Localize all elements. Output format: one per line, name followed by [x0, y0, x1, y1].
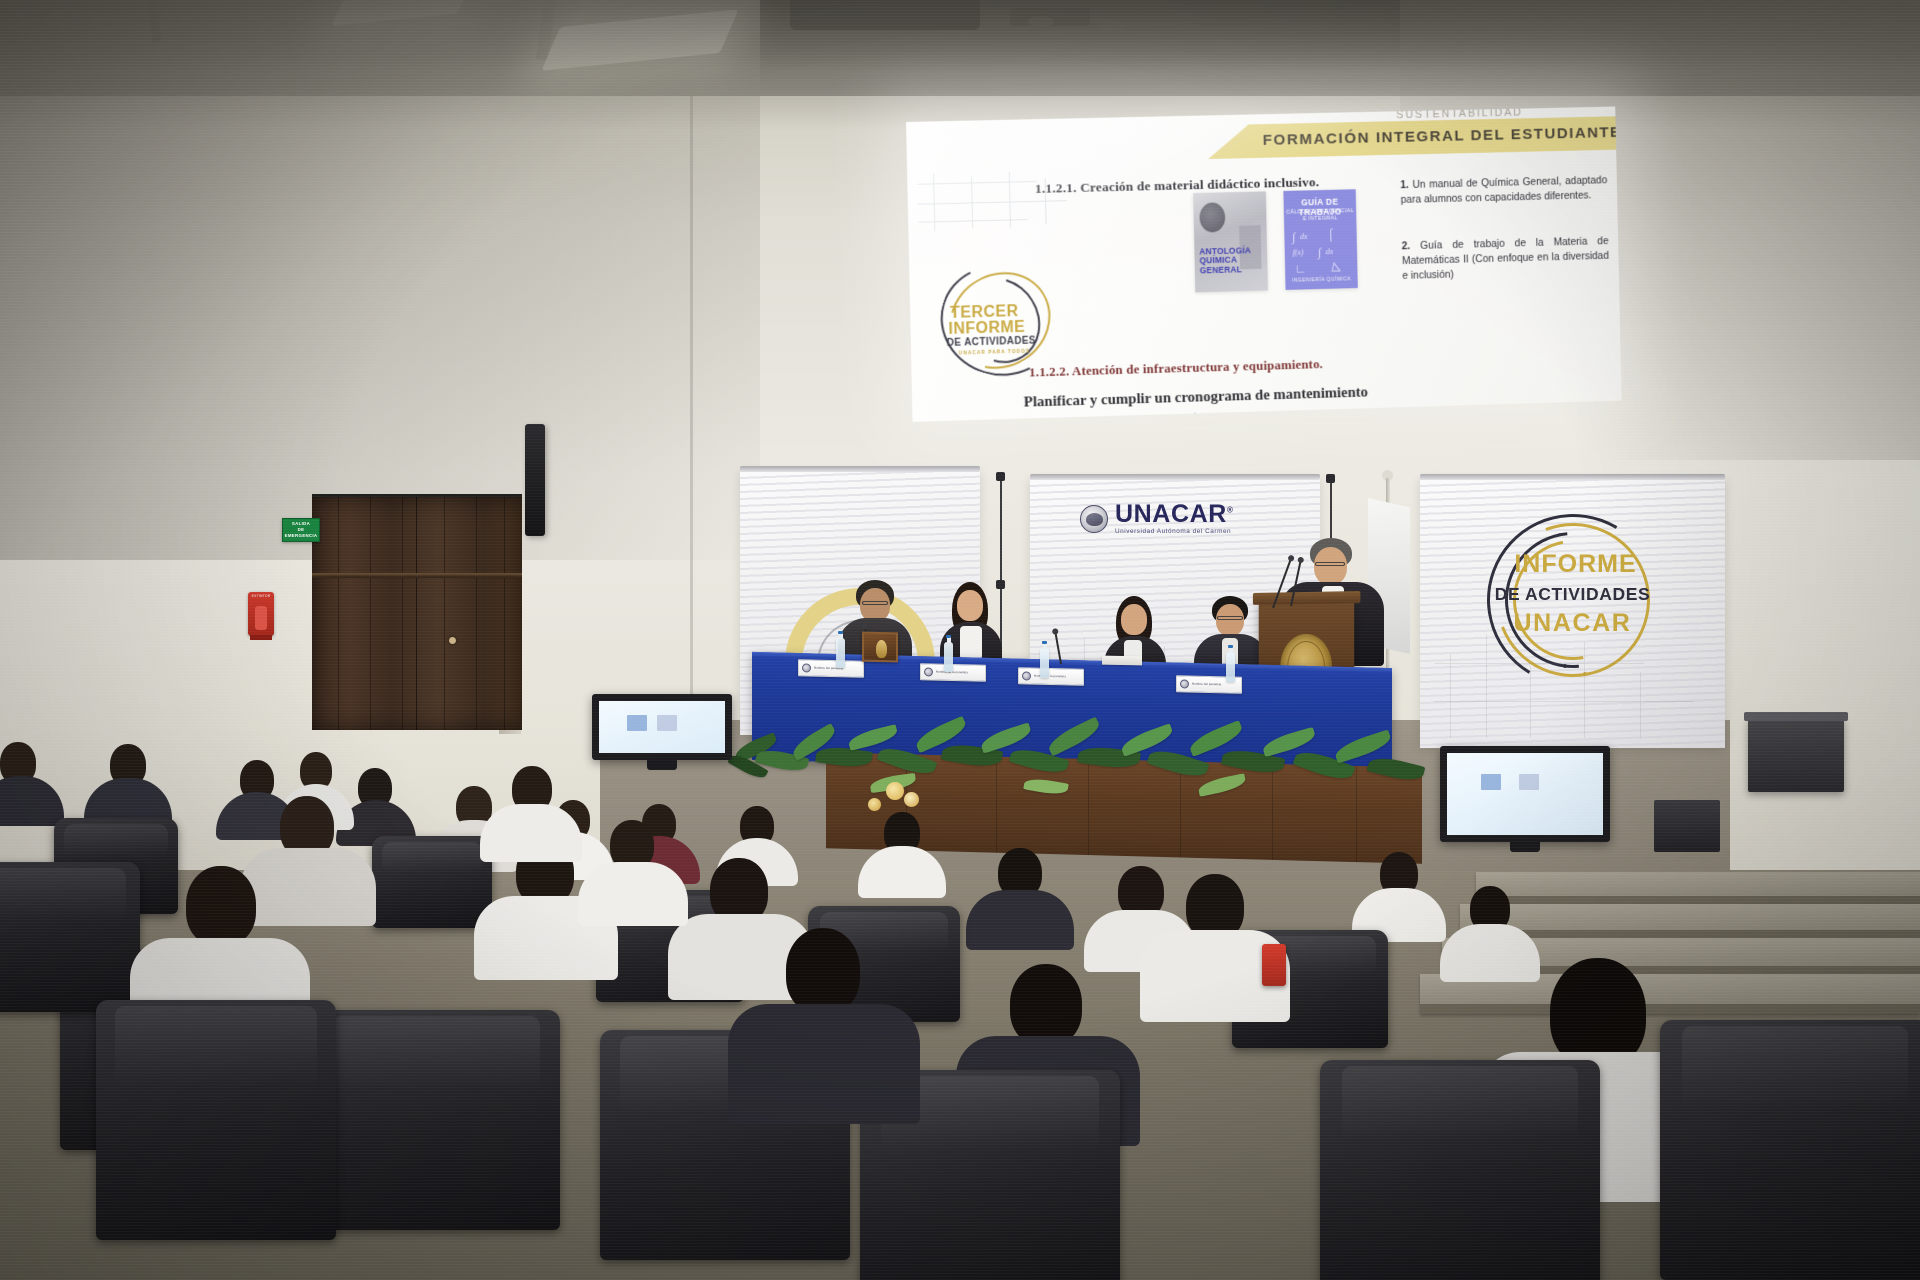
confidence-monitor-left	[592, 694, 732, 760]
registered-mark: ®	[1227, 506, 1234, 515]
audience-chair	[0, 862, 140, 1012]
audience-shoulders	[966, 890, 1074, 950]
unacar-tagline: Universidad Autónoma del Carmen	[1115, 529, 1233, 535]
extinguisher-bracket	[250, 635, 272, 640]
head	[1121, 604, 1147, 635]
slide-item-text: Un manual de Química General, adaptado p…	[1401, 174, 1608, 205]
water-bottle	[1226, 652, 1235, 682]
glasses-icon	[862, 601, 888, 605]
wall-seam	[690, 96, 693, 796]
flower	[904, 792, 919, 807]
beverage-can	[1262, 944, 1286, 986]
audience-shoulders	[728, 1004, 920, 1124]
audience-head	[186, 866, 256, 946]
slide-item-number: 1.	[1400, 179, 1409, 191]
tercer-informe-logo: TERCER INFORME DE ACTIVIDADES UNACAR PAR…	[935, 260, 1065, 381]
audience-head	[786, 928, 860, 1014]
nameplate-text: Nombre de la panelista	[1034, 674, 1066, 678]
floral-arrangement	[728, 718, 1428, 828]
banner-clip	[1326, 474, 1335, 483]
book-b-subtitle: CÁLCULO DIFERENCIAL E INTEGRAL	[1284, 208, 1357, 224]
water-bottle	[836, 638, 845, 668]
nameplate: Nombre de la panelista	[920, 663, 986, 681]
slide-ribbon-title: FORMACIÓN INTEGRAL DEL ESTUDIANTE	[1263, 124, 1622, 150]
wall-shading	[0, 0, 760, 560]
unacar-seal-icon	[1080, 505, 1108, 533]
slide-item-text: Guía de trabajo de la Materia de Matemát…	[1402, 235, 1609, 281]
audience-shoulders	[240, 848, 376, 926]
book-b-footer: INGENIERÍA QUÍMICA	[1285, 276, 1357, 284]
nameplate-seal-icon	[1180, 679, 1189, 688]
head	[1216, 604, 1244, 636]
audience-chair	[96, 1000, 336, 1240]
unacar-logo-lockup: UNACAR® Universidad Autónoma del Carmen	[1080, 502, 1233, 535]
head	[1314, 547, 1347, 585]
audience-chair	[1660, 1020, 1920, 1280]
head	[957, 590, 983, 621]
blouse	[960, 626, 982, 660]
unacar-brand: UNACAR	[1115, 500, 1227, 528]
book-a-line3: GENERAL	[1200, 265, 1252, 276]
audience-chair	[1320, 1060, 1600, 1280]
informe-logo-line2: DE ACTIVIDADES	[1493, 584, 1653, 605]
glasses-icon	[1217, 616, 1243, 620]
wooden-door[interactable]	[312, 494, 522, 730]
emergency-exit-sign: SALIDA DE EMERGENCIA	[282, 518, 320, 542]
nameplate-seal-icon	[1022, 671, 1031, 680]
banner-watermark	[1434, 620, 1711, 738]
water-bottle	[1040, 648, 1049, 678]
audience-shoulders	[480, 804, 582, 862]
nameplate: Nombre de la panelista	[1018, 667, 1084, 685]
audience-head	[1010, 964, 1082, 1046]
head	[860, 588, 890, 622]
audience-shoulders	[578, 862, 688, 926]
nameplate: Nombre del panelista	[798, 659, 864, 677]
side-cabinet	[1654, 800, 1720, 852]
auditorium-photo: SUSTENTABILIDAD FORMACIÓN INTEGRAL DEL E…	[0, 0, 1920, 1280]
book-cover-antologia: ANTOLOGÍA QUÍMICA GENERAL	[1193, 191, 1268, 292]
nameplate-seal-icon	[924, 667, 933, 676]
flower	[886, 782, 904, 800]
glasses-icon	[1315, 562, 1345, 566]
slide-item-number: 2.	[1402, 240, 1411, 252]
projected-slide: SUSTENTABILIDAD FORMACIÓN INTEGRAL DEL E…	[906, 107, 1622, 422]
banner-clip	[996, 472, 1005, 481]
audience-chair	[310, 1010, 560, 1230]
wall-speaker	[525, 424, 545, 536]
side-cabinet	[1748, 718, 1844, 792]
flower	[868, 798, 881, 811]
audience-chair	[372, 836, 492, 928]
water-bottle	[944, 642, 953, 672]
award-plaque	[862, 632, 898, 663]
book-cover-guia-trabajo: GUÍA DE TRABAJO CÁLCULO DIFERENCIAL E IN…	[1283, 189, 1357, 290]
slide-ribbon: FORMACIÓN INTEGRAL DEL ESTUDIANTE	[1207, 116, 1616, 159]
nameplate-text: Nombre del panelista	[1192, 682, 1221, 686]
informe-logo-line1: INFORME	[1503, 550, 1649, 579]
slide-section-2: 1.1.2.2. Atención de infraestructura y e…	[1029, 351, 1500, 380]
slide-list-item: 2. Guía de trabajo de la Materia de Mate…	[1402, 234, 1610, 283]
fire-extinguisher: EXTINTOR	[248, 592, 274, 636]
document-stack	[1102, 656, 1142, 666]
banner-right-informe: INFORME DE ACTIVIDADES UNACAR	[1420, 478, 1725, 748]
audience-shoulders	[1440, 924, 1540, 982]
slide-list-item: 1. Un manual de Química General, adaptad…	[1400, 173, 1607, 207]
extinguisher-label: EXTINTOR	[248, 594, 274, 598]
nameplate-seal-icon	[802, 663, 811, 672]
exit-sign-line3: EMERGENCIA	[285, 533, 318, 539]
